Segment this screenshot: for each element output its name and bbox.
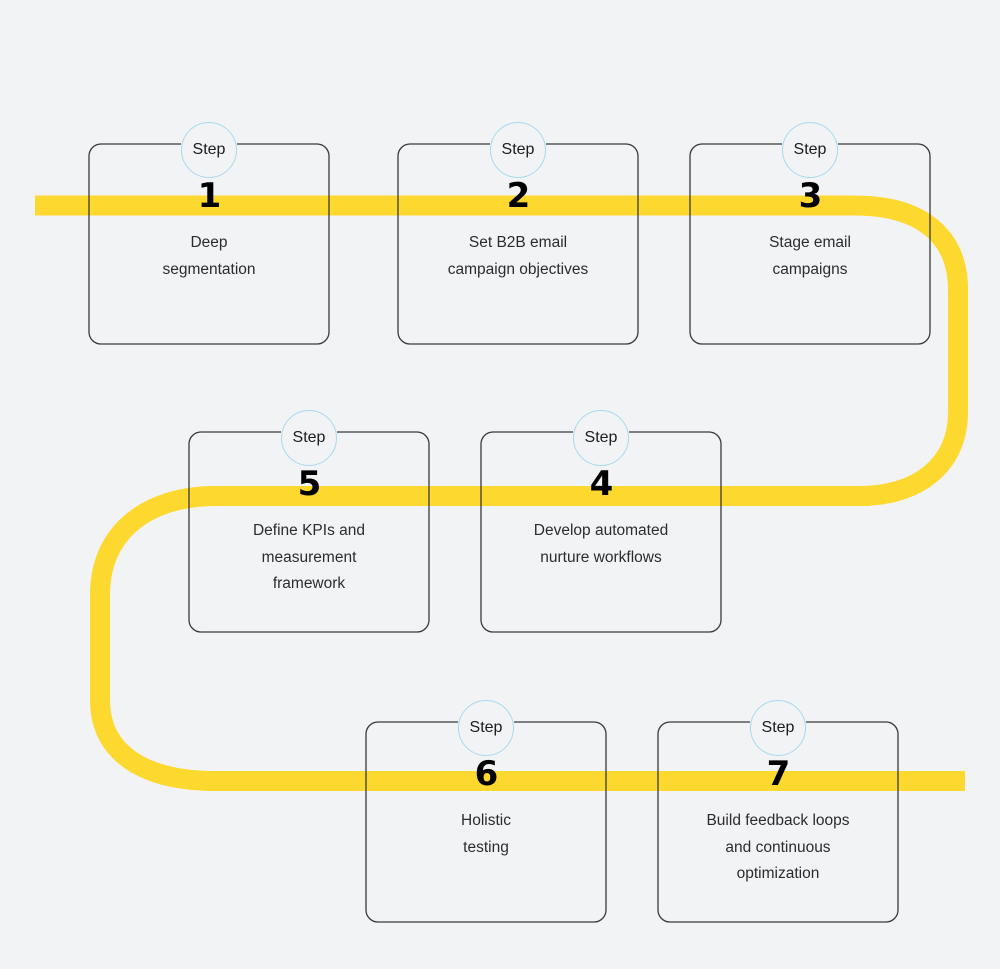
- step-number-7: 7: [767, 757, 790, 791]
- step-text-line: testing: [377, 835, 595, 862]
- step-badge-label: Step: [502, 142, 535, 158]
- step-number-3: 3: [799, 179, 822, 213]
- step-badge-label: Step: [794, 142, 827, 158]
- step-badge-7: Step: [750, 700, 806, 756]
- step-badge-label: Step: [762, 720, 795, 736]
- step-text-line: nurture workflows: [492, 545, 710, 572]
- step-text-line: campaigns: [701, 257, 919, 284]
- step-text-line: optimization: [669, 861, 887, 888]
- step-text-4: Develop automated nurture workflows: [492, 518, 710, 571]
- page-title: Smart, Budget-Safe B2B Email Strategy: [0, 36, 1000, 84]
- step-badge-1: Step: [181, 122, 237, 178]
- step-text-line: Holistic: [377, 808, 595, 835]
- infographic-canvas: Smart, Budget-Safe B2B Email Strategy 1 …: [0, 0, 1000, 969]
- step-text-7: Build feedback loops and continuous opti…: [669, 808, 887, 888]
- step-badge-label: Step: [293, 430, 326, 446]
- step-number-5: 5: [298, 467, 321, 501]
- step-text-line: Deep: [100, 230, 318, 257]
- step-number-4: 4: [590, 467, 613, 501]
- step-text-line: measurement: [200, 545, 418, 572]
- step-text-3: Stage email campaigns: [701, 230, 919, 283]
- step-text-line: Set B2B email: [409, 230, 627, 257]
- step-number-2: 2: [507, 179, 530, 213]
- step-badge-label: Step: [193, 142, 226, 158]
- step-text-line: Stage email: [701, 230, 919, 257]
- step-text-line: Define KPIs and: [200, 518, 418, 545]
- step-badge-label: Step: [470, 720, 503, 736]
- step-text-line: campaign objectives: [409, 257, 627, 284]
- step-text-line: framework: [200, 571, 418, 598]
- step-number-1: 1: [198, 179, 221, 213]
- step-text-line: Build feedback loops: [669, 808, 887, 835]
- step-badge-4: Step: [573, 410, 629, 466]
- step-text-line: and continuous: [669, 835, 887, 862]
- step-number-6: 6: [475, 757, 498, 791]
- step-text-6: Holistic testing: [377, 808, 595, 861]
- step-text-2: Set B2B email campaign objectives: [409, 230, 627, 283]
- step-text-line: segmentation: [100, 257, 318, 284]
- step-text-5: Define KPIs and measurement framework: [200, 518, 418, 598]
- step-text-line: Develop automated: [492, 518, 710, 545]
- step-badge-label: Step: [585, 430, 618, 446]
- step-badge-2: Step: [490, 122, 546, 178]
- step-badge-3: Step: [782, 122, 838, 178]
- step-badge-5: Step: [281, 410, 337, 466]
- step-badge-6: Step: [458, 700, 514, 756]
- step-text-1: Deep segmentation: [100, 230, 318, 283]
